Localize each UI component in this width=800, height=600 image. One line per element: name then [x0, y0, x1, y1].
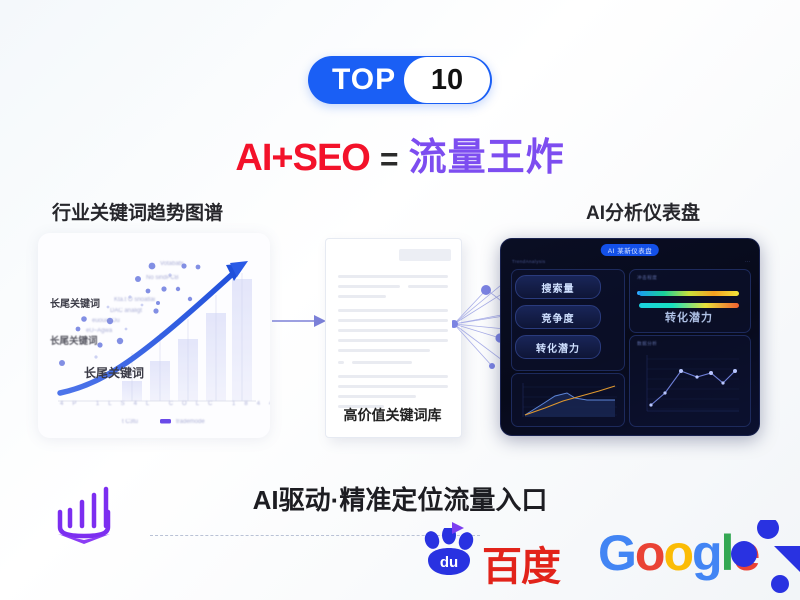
chart-axis-tick-row: 4P 1LS4L COLC 1844 4B 7LSK 4P 3023NS — [60, 401, 270, 407]
ai-analytics-dashboard: AI 某新仪表盘 TrendAnalysis ··· 搜索量 竞争度 转化潜力 … — [500, 238, 760, 436]
chart-blur-note-3: Kta.t O snoatlai — [114, 297, 155, 303]
badge-word: TOP — [332, 63, 396, 97]
bar-chart-pedestal-icon — [48, 482, 120, 548]
slide-canvas: TOP 10 AI+SEO=流量王炸 行业关键词趋势图谱 AI分析仪表盘 — [0, 0, 800, 600]
gauge-bar-2 — [639, 303, 739, 308]
title-part-chinese: 流量王炸 — [409, 137, 565, 179]
chart-blur-note-4: DAC analigt — [110, 308, 142, 314]
metric-button-search-volume[interactable]: 搜索量 — [515, 275, 601, 299]
chart-axis-note: t C3tu — [122, 419, 138, 425]
keyword-label-2: 长尾关键词 — [50, 333, 98, 347]
dashboard-line-chart — [635, 349, 743, 419]
flow-arrow-icon — [272, 312, 328, 330]
metric-button-competition[interactable]: 竞争度 — [515, 305, 601, 329]
keyword-label-1: 长尾关键词 — [50, 295, 100, 310]
small-arrow-icon — [438, 516, 478, 540]
footer-tagline: AI驱动·精准定位流量入口 — [0, 480, 800, 517]
dashboard-area-chart — [515, 379, 619, 421]
page-title: AI+SEO=流量王炸 — [0, 126, 800, 181]
gauge-overlay-label: 转化潜力 — [629, 309, 749, 325]
dashboard-sub-label: TrendAnalysis — [512, 259, 546, 264]
dashboard-title-tab: AI 某新仪表盘 — [601, 244, 659, 256]
doc-header-block — [399, 249, 451, 261]
baidu-du-text: du — [440, 554, 458, 571]
trend-panel-title: 数据分析 — [637, 341, 657, 347]
chart-blur-note-5: euouio Ou — [92, 318, 120, 324]
title-part-ai-seo: AI+SEO — [235, 137, 369, 179]
gauge-panel-title: 冲击程度 — [637, 275, 657, 281]
keyword-label-3: 长尾关键词 — [84, 364, 144, 381]
baidu-wordmark: 百度 — [482, 534, 560, 592]
chart-blur-note-1: Votababi — [160, 261, 183, 267]
chart-legend-label: trademode — [176, 419, 205, 425]
decorative-dots — [730, 520, 800, 600]
badge-number: 10 — [431, 64, 463, 97]
top-rank-badge: TOP 10 — [308, 56, 492, 104]
right-section-caption: AI分析仪表盘 — [586, 198, 700, 225]
document-caption: 高价值关键词库 — [325, 405, 460, 425]
metric-button-conversion[interactable]: 转化潜力 — [515, 335, 601, 359]
badge-number-pill: 10 — [404, 57, 490, 103]
keyword-trend-chart-card: Votababi No sindPCB Kta.t O snoatlai DAC… — [38, 233, 270, 438]
left-section-caption: 行业关键词趋势图谱 — [52, 198, 223, 225]
gauge-bar-1 — [639, 291, 739, 296]
title-equals: = — [380, 141, 399, 177]
chart-blur-note-2: No sindPCB — [146, 275, 179, 281]
dashboard-menu-icon[interactable]: ··· — [745, 259, 750, 265]
